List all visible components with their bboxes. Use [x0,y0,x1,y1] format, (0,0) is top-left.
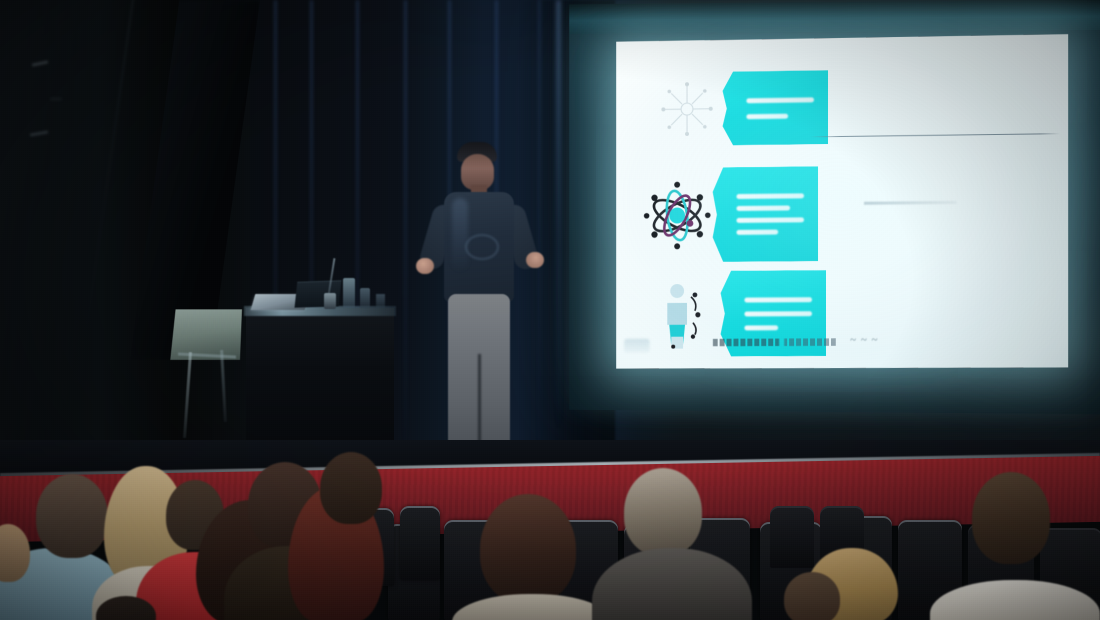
slide-footer-script: ~ ~ ~ [850,334,878,346]
bottle-small [360,288,370,308]
shirt-graphic [465,234,499,260]
audience-member-head [480,494,576,604]
slide-tag-line [746,97,814,103]
slide-tag-line [746,113,788,119]
conference-photo: ~ ~ ~ [0,0,1100,620]
projection-screen-surface: ~ ~ ~ [616,34,1068,369]
slide-footer-text [713,338,836,346]
audience-member-head [36,474,108,558]
audience-member-head [624,468,702,556]
jeans-seam [478,354,481,454]
presenter-left-hand [416,258,434,274]
person-figure-icon [650,275,721,353]
sparkle-diagram-icon [652,70,723,148]
slide-horizontal-rule [810,133,1060,137]
slide-corner-mark [624,339,650,353]
slide-tag-2 [713,166,818,262]
slide-row-2 [642,166,818,262]
slide-tag-line [736,205,790,211]
slide-tag-line [736,230,778,235]
glass [376,294,385,308]
presenter-table [246,308,394,460]
slide-row-1 [652,68,828,148]
audience-member-head [784,572,840,620]
slide-tag-line [736,217,804,223]
slide-tag-line [744,325,778,330]
drape-highlight [50,98,62,100]
drape-highlight [32,60,48,66]
audience-member-head [320,452,382,524]
atom-molecule-icon [642,176,713,254]
seat [400,506,440,580]
projection-screen-frame: ~ ~ ~ [569,0,1100,414]
slide-tag-line [744,311,812,316]
slide-tag-1 [723,70,828,145]
slide-faint-caption [864,201,957,205]
microphone [324,293,336,309]
audience-member-head [972,472,1050,564]
seat [770,506,814,568]
drape-highlight [30,130,48,136]
presenter [416,142,554,472]
slide-tag-line [744,297,812,302]
bottle-large [343,278,355,308]
curtain-edge-highlight [556,0,561,430]
presenter-right-hand [526,252,544,268]
shirt-highlight [452,198,468,270]
slide-tag-line [736,193,804,199]
